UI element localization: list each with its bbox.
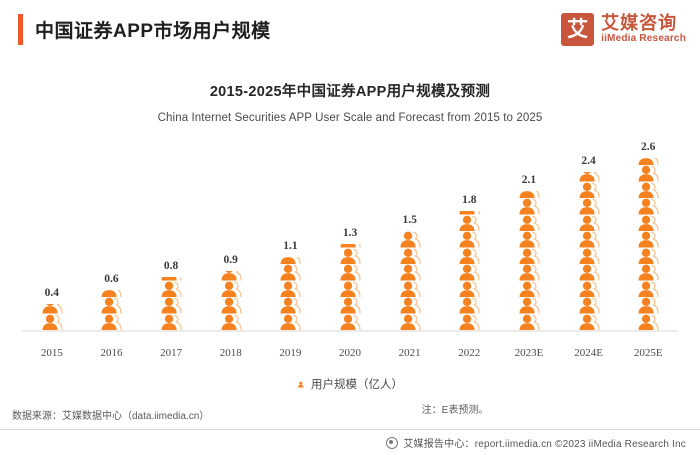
x-axis-tick: 2025E	[618, 347, 678, 359]
chart-notes: 数据来源：艾媒数据中心（data.iimedia.cn） 注：E表预测。	[0, 400, 700, 422]
person-icon	[516, 264, 542, 281]
brand-logo: 艾 艾媒咨询 iiMedia Research	[561, 13, 686, 46]
person-icon	[456, 215, 482, 232]
bar-column: 0.6	[82, 273, 142, 330]
page-footer: 艾媒报告中心：report.iimedia.cn ©2023 iiMedia R…	[0, 429, 700, 455]
bar-value-label: 0.8	[164, 260, 178, 272]
person-icon	[158, 277, 184, 280]
person-icon	[397, 297, 423, 314]
bar-value-label: 0.6	[104, 273, 118, 285]
legend-label: 用户规模（亿人）	[311, 376, 403, 392]
pictograph-stack	[397, 231, 423, 330]
bar-column: 0.9	[201, 254, 261, 330]
x-axis-tick: 2022	[439, 347, 499, 359]
bar-column: 1.5	[380, 214, 440, 330]
person-icon	[39, 304, 65, 314]
person-icon	[635, 264, 661, 281]
person-icon	[277, 281, 303, 298]
copyright-badge-icon	[386, 437, 398, 449]
pictograph-stack	[277, 257, 303, 330]
person-icon	[456, 264, 482, 281]
person-icon	[635, 297, 661, 314]
person-icon	[516, 215, 542, 232]
person-icon	[277, 257, 303, 264]
person-icon	[337, 244, 363, 247]
person-icon	[635, 281, 661, 298]
pictograph-stack	[39, 304, 65, 330]
person-icon	[576, 314, 602, 331]
chart-plot-area: 0.40.60.80.91.11.31.51.82.12.42.6	[22, 137, 678, 345]
person-icon	[337, 314, 363, 331]
page-title: 中国证券APP市场用户规模	[35, 16, 271, 43]
person-icon	[277, 264, 303, 281]
x-axis-tick: 2017	[141, 347, 201, 359]
person-icon	[516, 231, 542, 248]
bar-column: 0.8	[141, 260, 201, 330]
person-icon	[397, 264, 423, 281]
bar-value-label: 2.4	[581, 155, 595, 167]
bar-column: 2.4	[559, 155, 619, 330]
person-icon	[337, 281, 363, 298]
person-icon	[98, 290, 124, 297]
pictograph-stack	[516, 191, 542, 330]
person-icon	[456, 281, 482, 298]
chart-subtitle: China Internet Securities APP User Scale…	[0, 112, 700, 124]
footer-text: 艾媒报告中心：report.iimedia.cn ©2023 iiMedia R…	[403, 435, 686, 450]
bar-value-label: 0.4	[45, 287, 59, 299]
x-axis-tick: 2019	[261, 347, 321, 359]
bar-column: 2.1	[499, 174, 559, 330]
pictograph-stack	[98, 290, 124, 330]
person-icon	[218, 297, 244, 314]
person-icon	[516, 248, 542, 265]
person-icon	[576, 172, 602, 182]
logo-name-cn: 艾媒咨询	[601, 14, 686, 32]
logo-name-en: iiMedia Research	[601, 34, 686, 44]
note-forecast: 注：E表预测。	[105, 401, 700, 416]
person-icon	[397, 248, 423, 265]
person-icon	[158, 314, 184, 331]
x-axis-tick: 2016	[82, 347, 142, 359]
person-icon	[576, 248, 602, 265]
pictograph-bars: 0.40.60.80.91.11.31.51.82.12.42.6	[22, 137, 678, 330]
person-icon	[218, 314, 244, 331]
bar-value-label: 1.5	[402, 214, 416, 226]
pictograph-stack	[158, 277, 184, 330]
person-icon	[576, 231, 602, 248]
person-icon	[337, 264, 363, 281]
person-icon	[516, 297, 542, 314]
person-icon	[277, 314, 303, 331]
bar-value-label: 2.1	[522, 174, 536, 186]
person-icon	[635, 198, 661, 215]
person-icon	[158, 297, 184, 314]
x-axis-tick: 2018	[201, 347, 261, 359]
person-icon	[456, 231, 482, 248]
chart-title: 2015-2025年中国证券APP用户规模及预测	[0, 80, 700, 101]
person-icon	[456, 248, 482, 265]
bar-column: 1.3	[320, 227, 380, 330]
person-icon	[576, 215, 602, 232]
header-accent-bar	[18, 14, 23, 45]
person-icon	[218, 271, 244, 281]
person-icon	[297, 379, 306, 390]
person-icon	[397, 281, 423, 298]
pictograph-stack	[218, 271, 244, 330]
chart-legend: 用户规模（亿人）	[0, 376, 700, 392]
bar-value-label: 1.1	[283, 240, 297, 252]
x-axis-tick: 2024E	[559, 347, 619, 359]
person-icon	[218, 281, 244, 298]
person-icon	[576, 281, 602, 298]
person-icon	[576, 182, 602, 199]
pictograph-stack	[635, 158, 661, 330]
x-axis-tick: 2015	[22, 347, 82, 359]
pictograph-stack	[456, 211, 482, 330]
person-icon	[576, 264, 602, 281]
x-axis-tick: 2023E	[499, 347, 559, 359]
person-icon	[456, 297, 482, 314]
bar-column: 1.8	[439, 194, 499, 330]
person-icon	[576, 198, 602, 215]
person-icon	[337, 297, 363, 314]
person-icon	[635, 182, 661, 199]
bar-value-label: 0.9	[224, 254, 238, 266]
person-icon	[635, 314, 661, 331]
person-icon	[516, 198, 542, 215]
bar-value-label: 1.3	[343, 227, 357, 239]
person-icon	[39, 314, 65, 331]
x-axis-tick: 2020	[320, 347, 380, 359]
person-icon	[635, 248, 661, 265]
bar-column: 2.6	[618, 141, 678, 330]
logo-text: 艾媒咨询 iiMedia Research	[601, 14, 686, 44]
person-icon	[635, 165, 661, 182]
person-icon	[98, 297, 124, 314]
bar-column: 0.4	[22, 287, 82, 330]
person-icon	[158, 281, 184, 298]
person-icon	[516, 314, 542, 331]
x-axis-tick: 2021	[380, 347, 440, 359]
pictograph-stack	[337, 244, 363, 330]
x-axis-baseline	[22, 330, 678, 332]
person-icon	[635, 158, 661, 165]
person-icon	[635, 231, 661, 248]
person-icon	[516, 191, 542, 198]
bar-column: 1.1	[261, 240, 321, 330]
person-icon	[397, 314, 423, 331]
person-icon	[516, 281, 542, 298]
person-icon	[98, 314, 124, 331]
bar-value-label: 2.6	[641, 141, 655, 153]
person-icon	[456, 211, 482, 214]
person-icon	[277, 297, 303, 314]
person-icon	[456, 314, 482, 331]
pictograph-stack	[576, 172, 602, 330]
person-icon	[397, 231, 423, 248]
person-icon	[576, 297, 602, 314]
person-icon	[635, 215, 661, 232]
x-axis-labels: 201520162017201820192020202120222023E202…	[22, 347, 678, 359]
page-header: 中国证券APP市场用户规模 艾 艾媒咨询 iiMedia Research	[0, 0, 700, 58]
person-icon	[337, 248, 363, 265]
bar-value-label: 1.8	[462, 194, 476, 206]
logo-mark-icon: 艾	[561, 13, 594, 46]
